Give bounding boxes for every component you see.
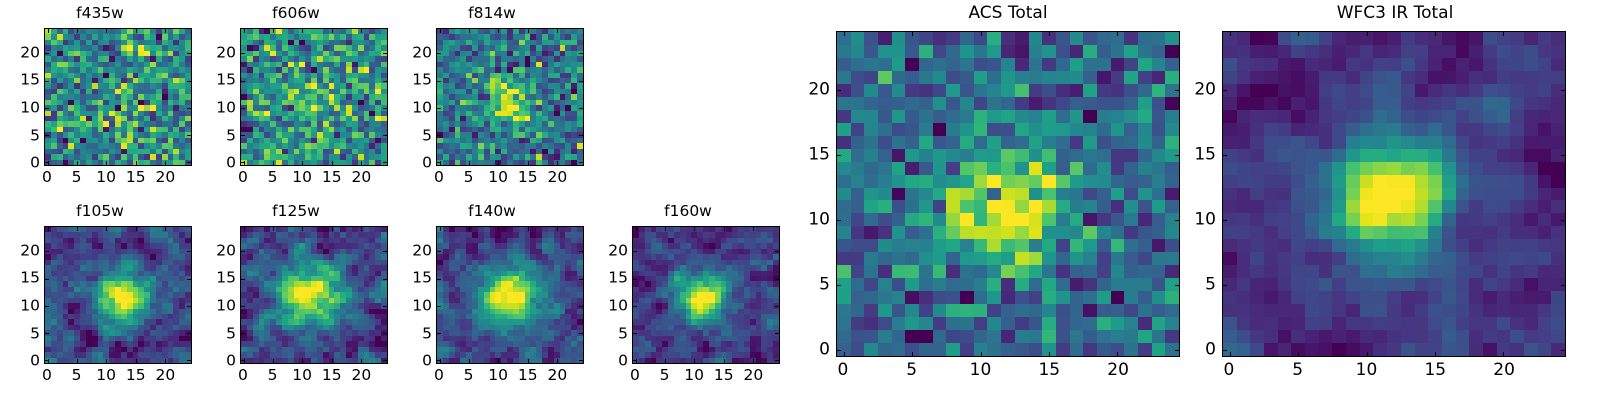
heatmap-axes[interactable] [44, 226, 192, 364]
panel-f160w: f160w 05101520 05101520 [588, 198, 788, 394]
x-tick-label: 0 [238, 170, 248, 186]
y-tick-label: 20 [216, 45, 236, 61]
x-tick-labels: 05101520 [1222, 362, 1566, 382]
y-tick-label: 15 [216, 271, 236, 287]
x-tick-label: 0 [434, 170, 444, 186]
panel-f140w: f140w 05101520 05101520 [392, 198, 592, 394]
x-tick-labels: 05101520 [436, 170, 584, 188]
x-tick-label: 5 [1292, 362, 1303, 379]
panel-title: f140w [392, 204, 592, 220]
x-tick-label: 5 [268, 170, 278, 186]
panel-f125w: f125w 05101520 05101520 [196, 198, 396, 394]
panel-title: f606w [196, 6, 396, 22]
heatmap-grid [837, 32, 1179, 356]
heatmap-grid [1223, 32, 1565, 356]
y-tick-label: 10 [20, 298, 40, 314]
x-tick-labels: 05101520 [240, 170, 388, 188]
x-tick-label: 0 [42, 368, 52, 384]
y-tick-label: 10 [412, 100, 432, 116]
x-tick-label: 10 [292, 170, 312, 186]
y-tick-label: 20 [1194, 81, 1216, 98]
y-tick-label: 0 [226, 353, 236, 369]
y-tick-label: 15 [1194, 146, 1216, 163]
panel-acs-total: ACS Total 05101520 05101520 [790, 0, 1188, 400]
panel-f105w: f105w 05101520 05101520 [0, 198, 200, 394]
x-tick-label: 10 [96, 368, 116, 384]
x-tick-label: 5 [72, 368, 82, 384]
x-tick-label: 20 [547, 170, 567, 186]
figure-canvas: f435w 05101520 05101520 f606w 05101520 0… [0, 0, 1600, 400]
panel-title: f125w [196, 204, 396, 220]
panel-f606w: f606w 05101520 05101520 [196, 0, 396, 196]
x-tick-label: 15 [126, 368, 146, 384]
y-tick-label: 5 [422, 128, 432, 144]
y-tick-label: 20 [216, 243, 236, 259]
y-tick-label: 15 [412, 271, 432, 287]
y-tick-label: 10 [20, 100, 40, 116]
x-tick-label: 10 [488, 170, 508, 186]
y-tick-label: 20 [20, 243, 40, 259]
x-tick-labels: 05101520 [836, 362, 1180, 382]
x-tick-label: 10 [292, 368, 312, 384]
y-tick-label: 0 [819, 342, 830, 359]
heatmap-axes[interactable] [240, 226, 388, 364]
y-tick-label: 15 [412, 73, 432, 89]
y-tick-label: 5 [226, 326, 236, 342]
x-tick-label: 20 [155, 368, 175, 384]
y-tick-label: 0 [226, 155, 236, 171]
x-tick-labels: 05101520 [436, 368, 584, 386]
y-tick-label: 10 [1194, 212, 1216, 229]
x-tick-label: 20 [1493, 362, 1515, 379]
y-tick-label: 15 [20, 73, 40, 89]
heatmap-axes[interactable] [1222, 31, 1566, 357]
heatmap-axes[interactable] [44, 28, 192, 166]
y-tick-label: 15 [216, 73, 236, 89]
y-tick-labels: 05101520 [6, 28, 40, 166]
y-tick-label: 20 [412, 243, 432, 259]
x-tick-label: 5 [464, 170, 474, 186]
x-tick-labels: 05101520 [44, 170, 192, 188]
x-tick-label: 10 [488, 368, 508, 384]
y-tick-label: 15 [20, 271, 40, 287]
y-tick-label: 5 [30, 128, 40, 144]
y-tick-labels: 05101520 [398, 226, 432, 364]
panel-title: f435w [0, 6, 200, 22]
x-tick-label: 15 [518, 170, 538, 186]
x-tick-label: 10 [1356, 362, 1378, 379]
y-tick-label: 5 [226, 128, 236, 144]
y-tick-label: 0 [30, 155, 40, 171]
heatmap-axes[interactable] [632, 226, 780, 364]
heatmap-axes[interactable] [436, 28, 584, 166]
heatmap-axes[interactable] [836, 31, 1180, 357]
heatmap-grid [437, 29, 583, 165]
x-tick-label: 15 [1424, 362, 1446, 379]
y-tick-label: 15 [608, 271, 628, 287]
y-tick-labels: 05101520 [398, 28, 432, 166]
y-tick-labels: 05101520 [1180, 31, 1216, 357]
y-tick-label: 5 [30, 326, 40, 342]
x-tick-label: 0 [837, 362, 848, 379]
heatmap-grid [241, 227, 387, 363]
y-tick-label: 15 [808, 146, 830, 163]
panel-wfc3-ir-total: WFC3 IR Total 05101520 05101520 [1178, 0, 1576, 400]
y-tick-label: 10 [216, 298, 236, 314]
x-tick-labels: 05101520 [240, 368, 388, 386]
y-tick-label: 20 [412, 45, 432, 61]
y-tick-label: 10 [412, 298, 432, 314]
y-tick-label: 5 [422, 326, 432, 342]
heatmap-axes[interactable] [240, 28, 388, 166]
y-tick-label: 0 [422, 155, 432, 171]
x-tick-label: 20 [351, 368, 371, 384]
y-tick-label: 20 [608, 243, 628, 259]
x-tick-label: 5 [464, 368, 474, 384]
x-tick-label: 15 [518, 368, 538, 384]
x-tick-label: 15 [126, 170, 146, 186]
x-tick-label: 15 [1038, 362, 1060, 379]
y-tick-label: 20 [808, 81, 830, 98]
panel-title: f814w [392, 6, 592, 22]
x-tick-label: 15 [322, 170, 342, 186]
y-tick-label: 0 [618, 353, 628, 369]
heatmap-grid [633, 227, 779, 363]
x-tick-label: 5 [660, 368, 670, 384]
y-tick-labels: 05101520 [794, 31, 830, 357]
x-tick-label: 20 [547, 368, 567, 384]
panel-f814w: f814w 05101520 05101520 [392, 0, 592, 196]
x-tick-label: 20 [351, 170, 371, 186]
panel-title: f105w [0, 204, 200, 220]
y-tick-label: 20 [20, 45, 40, 61]
x-tick-label: 10 [684, 368, 704, 384]
x-tick-label: 20 [743, 368, 763, 384]
x-tick-label: 15 [714, 368, 734, 384]
y-tick-label: 10 [216, 100, 236, 116]
x-tick-label: 5 [906, 362, 917, 379]
x-tick-labels: 05101520 [44, 368, 192, 386]
heatmap-axes[interactable] [436, 226, 584, 364]
y-tick-labels: 05101520 [202, 28, 236, 166]
x-tick-label: 0 [42, 170, 52, 186]
y-tick-labels: 05101520 [202, 226, 236, 364]
x-tick-labels: 05101520 [632, 368, 780, 386]
y-tick-labels: 05101520 [6, 226, 40, 364]
y-tick-label: 5 [819, 277, 830, 294]
y-tick-label: 5 [618, 326, 628, 342]
x-tick-label: 10 [970, 362, 992, 379]
y-tick-labels: 05101520 [594, 226, 628, 364]
heatmap-grid [241, 29, 387, 165]
x-tick-label: 20 [155, 170, 175, 186]
x-tick-label: 15 [322, 368, 342, 384]
y-tick-label: 10 [608, 298, 628, 314]
y-tick-label: 5 [1205, 277, 1216, 294]
x-tick-label: 0 [1223, 362, 1234, 379]
x-tick-label: 5 [72, 170, 82, 186]
heatmap-grid [45, 227, 191, 363]
x-tick-label: 10 [96, 170, 116, 186]
heatmap-grid [437, 227, 583, 363]
y-tick-label: 0 [1205, 342, 1216, 359]
panel-title: WFC3 IR Total [1222, 5, 1568, 22]
panel-title: ACS Total [836, 5, 1180, 22]
y-tick-label: 0 [422, 353, 432, 369]
x-tick-label: 0 [434, 368, 444, 384]
panel-title: f160w [588, 204, 788, 220]
x-tick-label: 0 [238, 368, 248, 384]
x-tick-label: 5 [268, 368, 278, 384]
x-tick-label: 20 [1107, 362, 1129, 379]
panel-f435w: f435w 05101520 05101520 [0, 0, 200, 196]
y-tick-label: 0 [30, 353, 40, 369]
y-tick-label: 10 [808, 212, 830, 229]
heatmap-grid [45, 29, 191, 165]
x-tick-label: 0 [630, 368, 640, 384]
